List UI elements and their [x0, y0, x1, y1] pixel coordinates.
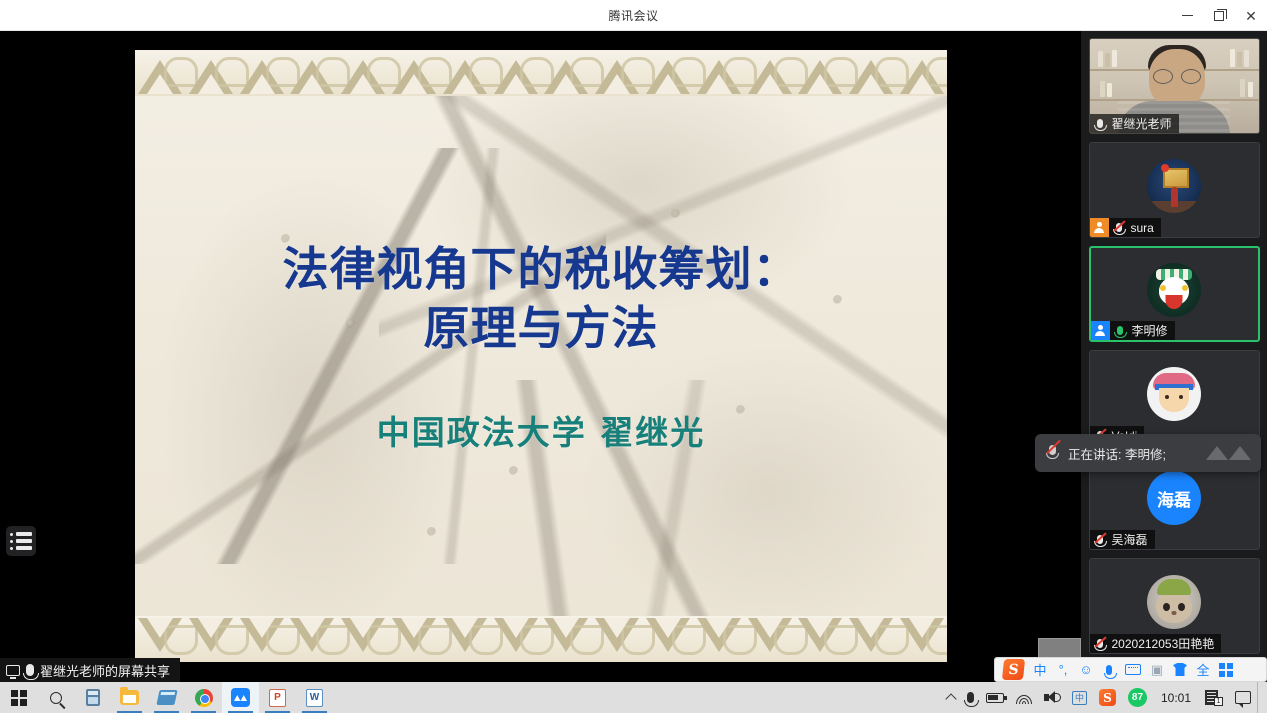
participant-name-bar: 翟继光老师: [1090, 114, 1179, 133]
toolbox-button[interactable]: [1219, 659, 1233, 680]
participant-name-bar: sura: [1090, 218, 1161, 237]
notes-app-button[interactable]: [148, 682, 185, 713]
minimize-icon: [1182, 15, 1193, 16]
slide-title-line-2: 原理与方法: [283, 299, 800, 358]
participant-tile[interactable]: 2020212053田艳艳: [1089, 558, 1260, 654]
participant-tile[interactable]: sura: [1089, 142, 1260, 238]
participant-name: 李明修: [1130, 322, 1168, 339]
participant-name: 吴海磊: [1110, 531, 1148, 548]
participant-avatar: 海磊: [1147, 471, 1201, 525]
action-center-button[interactable]: [1229, 682, 1257, 713]
skin-button[interactable]: [1173, 659, 1187, 680]
slide-title: 法律视角下的税收筹划： 原理与方法: [283, 240, 800, 358]
participant-tile[interactable]: 翟继光老师: [1089, 38, 1260, 134]
participant-tile-speaking[interactable]: 李明修: [1089, 246, 1260, 342]
chinese-mode-toggle[interactable]: 中: [1033, 659, 1047, 680]
tencent-meeting-button[interactable]: [222, 682, 259, 713]
folder-icon: [120, 690, 139, 705]
avatar-badge-icon: [1090, 218, 1109, 237]
chevron-up-icon: [945, 693, 956, 704]
screenshot-button[interactable]: ▣: [1150, 659, 1164, 680]
speaker-icon: [1044, 691, 1060, 704]
sogou-logo-icon: S: [1099, 689, 1116, 706]
punctuation-toggle[interactable]: °,: [1056, 659, 1070, 680]
maximize-icon: [1214, 11, 1224, 21]
participant-name-bar: 吴海磊: [1090, 530, 1155, 549]
tray-sogou-button[interactable]: S: [1093, 682, 1122, 713]
calculator-button[interactable]: [74, 682, 111, 713]
search-button[interactable]: [37, 682, 74, 713]
tencent-meeting-icon: [231, 688, 250, 707]
system-tray: 中 S 87 10:01 1: [941, 682, 1267, 713]
window-title: 腾讯会议: [608, 7, 658, 24]
meeting-body: 法律视角下的税收筹划： 原理与方法 中国政法大学 翟继光 翟继光老师的屏幕共享: [0, 31, 1267, 682]
word-icon: W: [306, 689, 323, 707]
tray-battery-button[interactable]: [980, 682, 1010, 713]
close-button[interactable]: ✕: [1235, 0, 1267, 31]
windows-taskbar: P W 中 S 87 10:01 1: [0, 682, 1267, 713]
microphone-icon: [967, 692, 974, 703]
soft-keyboard-button[interactable]: [1125, 659, 1141, 680]
battery-icon: [986, 693, 1004, 703]
participant-avatar: [1147, 159, 1201, 213]
chrome-button[interactable]: [185, 682, 222, 713]
tray-notifications-button[interactable]: 1: [1199, 682, 1229, 713]
powerpoint-button[interactable]: P: [259, 682, 296, 713]
window-controls: ✕: [1171, 0, 1267, 31]
participant-avatar: [1147, 367, 1201, 421]
start-button[interactable]: [0, 682, 37, 713]
voice-input-button[interactable]: [1102, 659, 1116, 680]
list-icon: [10, 532, 32, 550]
screen-share-banner: 翟继光老师的屏幕共享: [0, 658, 180, 682]
tray-network-button[interactable]: [1010, 682, 1038, 713]
participant-tile[interactable]: Valdi: [1089, 350, 1260, 446]
speaking-toast: 正在讲话: 李明修;: [1035, 434, 1261, 472]
stage-scroll-handle[interactable]: [1038, 638, 1081, 658]
emoji-button[interactable]: ☺: [1079, 659, 1093, 680]
screen-share-icon: [6, 665, 20, 676]
windows-logo-icon: [11, 690, 27, 706]
microphone-muted-icon: [1090, 639, 1110, 648]
tray-ime-button[interactable]: 中: [1066, 682, 1093, 713]
minimize-button[interactable]: [1171, 0, 1203, 31]
notifications-icon: 1: [1205, 690, 1223, 706]
maximize-button[interactable]: [1203, 0, 1235, 31]
action-center-icon: [1235, 691, 1251, 704]
slide-text-block: 法律视角下的税收筹划： 原理与方法 中国政法大学 翟继光: [135, 50, 947, 662]
calculator-icon: [86, 689, 100, 706]
slide-title-line-1: 法律视角下的税收筹划：: [283, 240, 800, 299]
tray-volume-button[interactable]: [1038, 682, 1066, 713]
tray-score-badge[interactable]: 87: [1122, 682, 1153, 713]
wifi-icon: [1016, 692, 1032, 704]
participant-avatar: [1147, 263, 1201, 317]
window-titlebar: 腾讯会议 ✕: [0, 0, 1267, 31]
book-icon: [156, 690, 177, 705]
tray-overflow-button[interactable]: [941, 682, 961, 713]
tencent-meeting-logo-icon: [1206, 446, 1251, 460]
file-explorer-button[interactable]: [111, 682, 148, 713]
participant-name-bar: 李明修: [1091, 321, 1175, 340]
tencent-meeting-window: 腾讯会议 ✕: [0, 0, 1267, 713]
tray-microphone-button[interactable]: [961, 682, 980, 713]
sogou-logo-icon[interactable]: S: [1002, 659, 1025, 680]
word-button[interactable]: W: [296, 682, 333, 713]
avatar-badge-icon: [1091, 321, 1110, 340]
taskbar-clock[interactable]: 10:01: [1153, 691, 1199, 705]
powerpoint-icon: P: [269, 689, 286, 707]
microphone-muted-icon: [1045, 445, 1059, 461]
search-icon: [50, 692, 62, 704]
participant-name-bar: 2020212053田艳艳: [1090, 634, 1222, 653]
notification-count: 1: [1214, 697, 1223, 706]
taskbar-app-buttons: P W: [0, 682, 333, 713]
shared-screen-stage: 法律视角下的税收筹划： 原理与方法 中国政法大学 翟继光 翟继光老师的屏幕共享: [0, 31, 1081, 682]
microphone-active-icon: [1110, 326, 1130, 335]
show-desktop-button[interactable]: [1257, 682, 1263, 713]
fullwidth-toggle[interactable]: 全: [1196, 659, 1210, 680]
slide-subtitle: 中国政法大学 翟继光: [377, 406, 706, 454]
microphone-muted-icon: [1109, 223, 1129, 232]
microphone-muted-icon: [1090, 535, 1110, 544]
participant-name: sura: [1129, 221, 1154, 235]
sogou-ime-toolbar[interactable]: S 中 °, ☺ ▣ 全: [994, 657, 1267, 682]
participant-avatar: [1147, 575, 1201, 629]
microphone-icon: [1090, 119, 1110, 128]
input-method-icon: 中: [1072, 691, 1087, 705]
chrome-icon: [195, 689, 213, 707]
participant-list-toggle-button[interactable]: [6, 526, 36, 556]
participants-panel[interactable]: 翟继光老师 sura: [1081, 31, 1267, 682]
close-icon: ✕: [1245, 9, 1257, 23]
score-badge-icon: 87: [1128, 688, 1147, 707]
presentation-slide: 法律视角下的税收筹划： 原理与方法 中国政法大学 翟继光: [135, 50, 947, 662]
speaking-toast-text: 正在讲话: 李明修;: [1068, 444, 1166, 463]
screen-share-label: 翟继光老师的屏幕共享: [40, 661, 170, 680]
participant-name: 翟继光老师: [1110, 115, 1172, 132]
microphone-icon: [26, 664, 34, 676]
participant-name: 2020212053田艳艳: [1110, 635, 1215, 652]
